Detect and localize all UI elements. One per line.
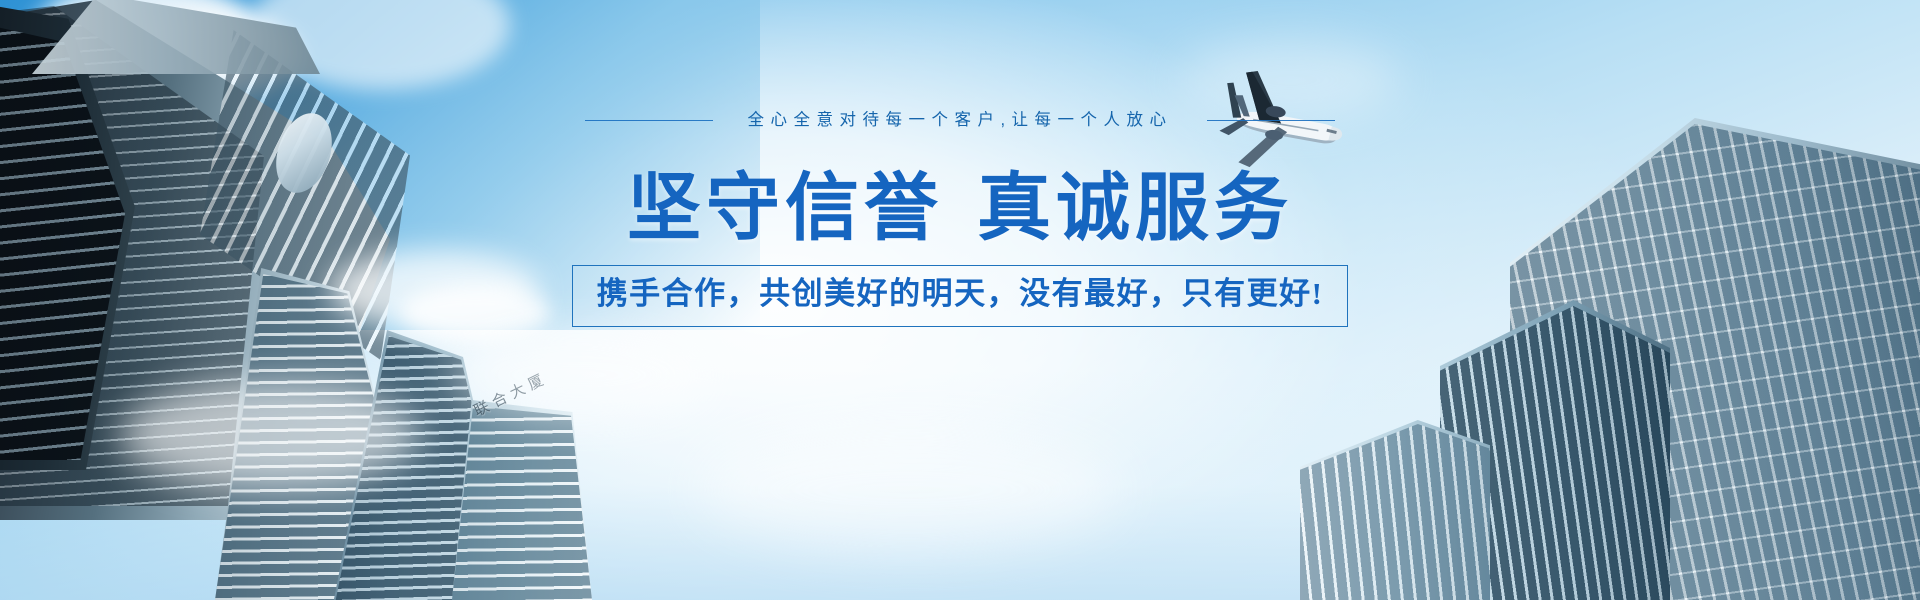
tagline-row: 全心全意对待每一个客户,让每一个人放心 — [0, 112, 1920, 129]
headline-part-1: 坚守信誉 — [627, 168, 943, 250]
tagline-rule-left — [585, 120, 713, 121]
banner-text-content: 全心全意对待每一个客户,让每一个人放心 坚守信誉真诚服务 携手合作，共创美好的明… — [0, 0, 1920, 600]
subtitle-box: 携手合作，共创美好的明天，没有最好，只有更好! — [572, 265, 1349, 327]
headline-part-2: 真诚服务 — [977, 168, 1293, 250]
tagline-text: 全心全意对待每一个客户,让每一个人放心 — [747, 112, 1172, 129]
hero-banner: 联合大厦 — [0, 0, 1920, 600]
page-title: 坚守信誉真诚服务 — [0, 168, 1920, 251]
tagline-rule-right — [1207, 120, 1335, 121]
subtitle-row: 携手合作，共创美好的明天，没有最好，只有更好! — [0, 265, 1920, 327]
